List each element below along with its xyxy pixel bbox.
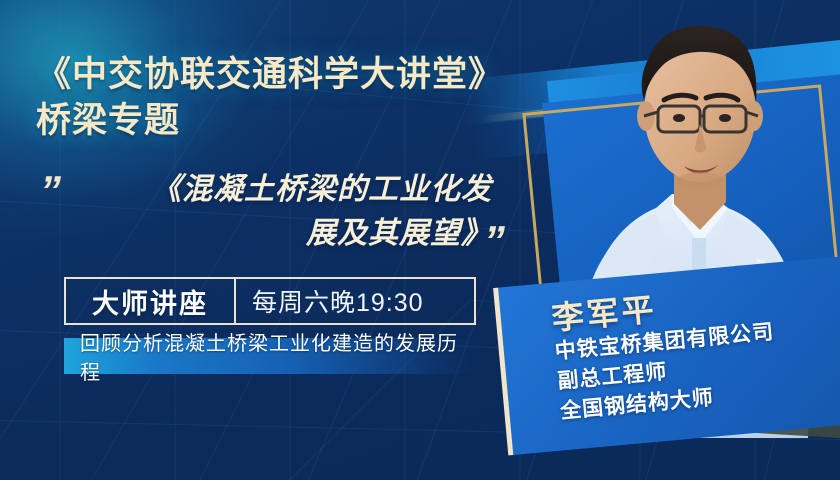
page-title: 《中交协联交通科学大讲堂》 桥梁专题 [36,52,636,144]
quote-block: ” 《混凝土桥梁的工业化发 展及其展望》 ” [36,168,516,256]
subtitle-bar: 回顾分析混凝土桥梁工业化建造的发展历程 [64,338,476,374]
poster-canvas: 《中交协联交通科学大讲堂》 桥梁专题 ” 《混凝土桥梁的工业化发 展及其展望》 … [0,0,840,480]
quote-text: 《混凝土桥梁的工业化发 展及其展望》 [82,168,492,256]
lecture-info-box: 大师讲座 每周六晚19:30 [64,277,476,325]
lecture-schedule: 每周六晚19:30 [236,279,424,323]
speaker-info-content: 李军平 中铁宝桥集团有限公司 副总工程师 全国钢结构大师 [509,263,840,452]
quote-close-icon: ” [484,220,505,262]
quote-open-icon: ” [40,170,61,212]
subtitle-text: 回顾分析混凝土桥梁工业化建造的发展历程 [64,327,476,385]
lecture-label: 大师讲座 [66,279,234,323]
